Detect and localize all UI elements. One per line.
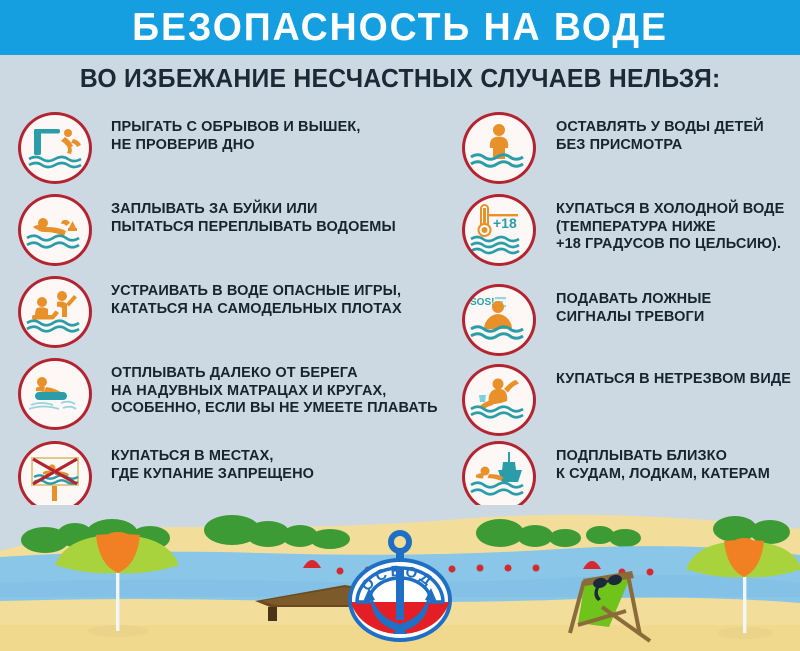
list-item: КУПАТЬСЯ В МЕСТАХ, ГДЕ КУПАНИЕ ЗАПРЕЩЕНО bbox=[18, 441, 314, 513]
rules-columns: ПРЫГАТЬ С ОБРЫВОВ И ВЫШЕК, НЕ ПРОВЕРИВ Д… bbox=[0, 106, 800, 516]
list-item: УСТРАИВАТЬ В ВОДЕ ОПАСНЫЕ ИГРЫ, КАТАТЬСЯ… bbox=[18, 276, 402, 348]
cold-water-thermometer-icon: +18 bbox=[462, 194, 536, 266]
subheader-title: ВО ИЗБЕЖАНИЕ НЕСЧАСТНЫХ СЛУЧАЕВ НЕЛЬЗЯ: bbox=[80, 63, 721, 94]
list-item: ОТПЛЫВАТЬ ДАЛЕКО ОТ БЕРЕГА НА НАДУВНЫХ М… bbox=[18, 358, 438, 430]
list-item: ЗАПЛЫВАТЬ ЗА БУЙКИ ИЛИ ПЫТАТЬСЯ ПЕРЕПЛЫВ… bbox=[18, 194, 396, 266]
list-item-text: ПОДПЛЫВАТЬ БЛИЗКО К СУДАМ, ЛОДКАМ, КАТЕР… bbox=[556, 441, 770, 483]
list-item-text: КУПАТЬСЯ В ХОЛОДНОЙ ВОДЕ (ТЕМПЕРАТУРА НИ… bbox=[556, 194, 784, 254]
list-item-text: ОСТАВЛЯТЬ У ВОДЫ ДЕТЕЙ БЕЗ ПРИСМОТРА bbox=[556, 112, 764, 154]
list-item-text: ПРЫГАТЬ С ОБРЫВОВ И ВЫШЕК, НЕ ПРОВЕРИВ Д… bbox=[111, 112, 360, 154]
list-item-text: УСТРАИВАТЬ В ВОДЕ ОПАСНЫЕ ИГРЫ, КАТАТЬСЯ… bbox=[111, 276, 402, 318]
infographic-page: БЕЗОПАСНОСТЬ НА ВОДЕ ВО ИЗБЕЖАНИЕ НЕСЧАС… bbox=[0, 0, 800, 651]
near-boats-icon bbox=[462, 441, 536, 513]
sos-label: SOS! bbox=[470, 297, 494, 308]
list-item: SOS! ПОДАВАТЬ ЛОЖНЫ bbox=[462, 284, 711, 356]
swim-past-buoys-icon bbox=[18, 194, 92, 266]
unattended-child-icon bbox=[462, 112, 536, 184]
cliff-diving-icon bbox=[18, 112, 92, 184]
list-item: ПРЫГАТЬ С ОБРЫВОВ И ВЫШЕК, НЕ ПРОВЕРИВ Д… bbox=[18, 112, 360, 184]
dangerous-games-raft-icon bbox=[18, 276, 92, 348]
false-alarm-sos-icon: SOS! bbox=[462, 284, 536, 356]
header-band: БЕЗОПАСНОСТЬ НА ВОДЕ bbox=[0, 0, 800, 55]
list-item: ОСТАВЛЯТЬ У ВОДЫ ДЕТЕЙ БЕЗ ПРИСМОТРА bbox=[462, 112, 764, 184]
list-item-text: КУПАТЬСЯ В НЕТРЕЗВОМ ВИДЕ bbox=[556, 364, 791, 389]
no-swimming-sign-icon bbox=[18, 441, 92, 513]
list-item-text: ОТПЛЫВАТЬ ДАЛЕКО ОТ БЕРЕГА НА НАДУВНЫХ М… bbox=[111, 358, 438, 418]
inflatable-mattress-icon bbox=[18, 358, 92, 430]
osvod-emblem: ОСВОД bbox=[341, 528, 459, 646]
list-item-text: ПОДАВАТЬ ЛОЖНЫЕ СИГНАЛЫ ТРЕВОГИ bbox=[556, 284, 711, 326]
subheader: ВО ИЗБЕЖАНИЕ НЕСЧАСТНЫХ СЛУЧАЕВ НЕЛЬЗЯ: bbox=[0, 57, 800, 99]
list-item-text: ЗАПЛЫВАТЬ ЗА БУЙКИ ИЛИ ПЫТАТЬСЯ ПЕРЕПЛЫВ… bbox=[111, 194, 396, 236]
thermometer-value: +18 bbox=[493, 215, 517, 231]
page-title: БЕЗОПАСНОСТЬ НА ВОДЕ bbox=[132, 8, 668, 47]
list-item: +18 КУПАТЬСЯ В ХОЛОДНОЙ ВОДЕ (ТЕМПЕРАТУР… bbox=[462, 194, 784, 266]
list-item: КУПАТЬСЯ В НЕТРЕЗВОМ ВИДЕ bbox=[462, 364, 791, 436]
list-item: ПОДПЛЫВАТЬ БЛИЗКО К СУДАМ, ЛОДКАМ, КАТЕР… bbox=[462, 441, 770, 513]
drunk-swimming-icon bbox=[462, 364, 536, 436]
list-item-text: КУПАТЬСЯ В МЕСТАХ, ГДЕ КУПАНИЕ ЗАПРЕЩЕНО bbox=[111, 441, 314, 483]
